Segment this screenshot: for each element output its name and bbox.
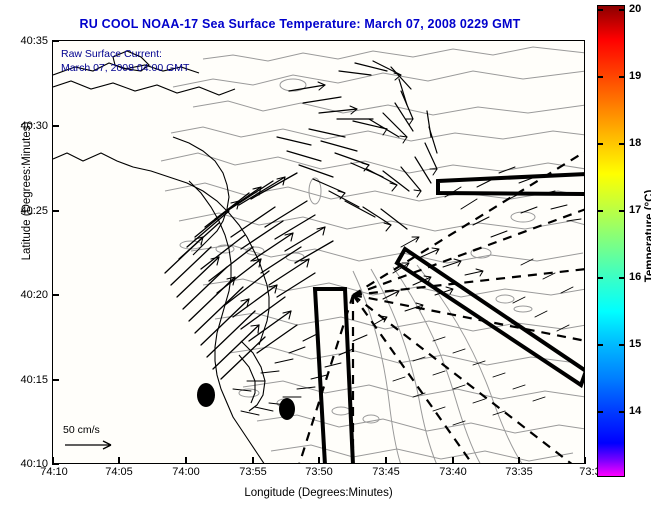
x-tick-label: 73:50 <box>305 466 333 478</box>
x-tick-label: 73:55 <box>239 466 267 478</box>
colorbar-tick-label: 16 <box>629 271 641 283</box>
x-tick-label: 74:00 <box>172 466 200 478</box>
page-title: RU COOL NOAA-17 Sea Surface Temperature:… <box>0 17 600 31</box>
beam-box-upper <box>438 174 585 194</box>
map-canvas <box>53 41 585 464</box>
y-tick-label: 40:10 <box>20 458 48 470</box>
colorbar-tick-label: 18 <box>629 137 641 149</box>
radar-beam-boxes <box>315 174 585 464</box>
coastline-layer <box>53 51 269 464</box>
map-plot-area: Raw Surface Current: March 07, 2008 04:0… <box>52 40 585 464</box>
x-tick-label: 73:40 <box>439 466 467 478</box>
scale-bar-arrow-icon <box>63 439 123 451</box>
station-marker-2 <box>279 398 295 420</box>
x-tick-label: 74:05 <box>105 466 133 478</box>
colorbar-tick-label: 17 <box>629 204 641 216</box>
annotation-block: Raw Surface Current: March 07, 2008 04:0… <box>61 47 189 75</box>
annotation-line-1: Raw Surface Current: <box>61 47 189 61</box>
sst-contour-layer <box>161 47 585 464</box>
y-axis-title: Latitude (Degrees:Minutes) <box>21 81 33 301</box>
x-tick-label: 73:35 <box>505 466 533 478</box>
station-markers <box>197 383 295 420</box>
x-axis-title: Longitude (Degrees:Minutes) <box>52 487 585 499</box>
colorbar-title: Temperature (°C) <box>644 126 651 346</box>
colorbar-tick-label: 20 <box>629 3 641 15</box>
colorbar-tick-label: 15 <box>629 338 641 350</box>
x-tick-label: 73:45 <box>372 466 400 478</box>
annotation-line-2: March 07, 2008 04:00 GMT <box>61 61 189 75</box>
station-marker-1 <box>197 383 215 407</box>
y-tick-label: 40:15 <box>20 374 48 386</box>
colorbar-tick-label: 14 <box>629 405 641 417</box>
scale-bar-label: 50 cm/s <box>63 424 123 436</box>
vector-scale-bar: 50 cm/s <box>63 424 123 454</box>
colorbar-tick-label: 19 <box>629 70 641 82</box>
y-tick-label: 40:35 <box>20 35 48 47</box>
